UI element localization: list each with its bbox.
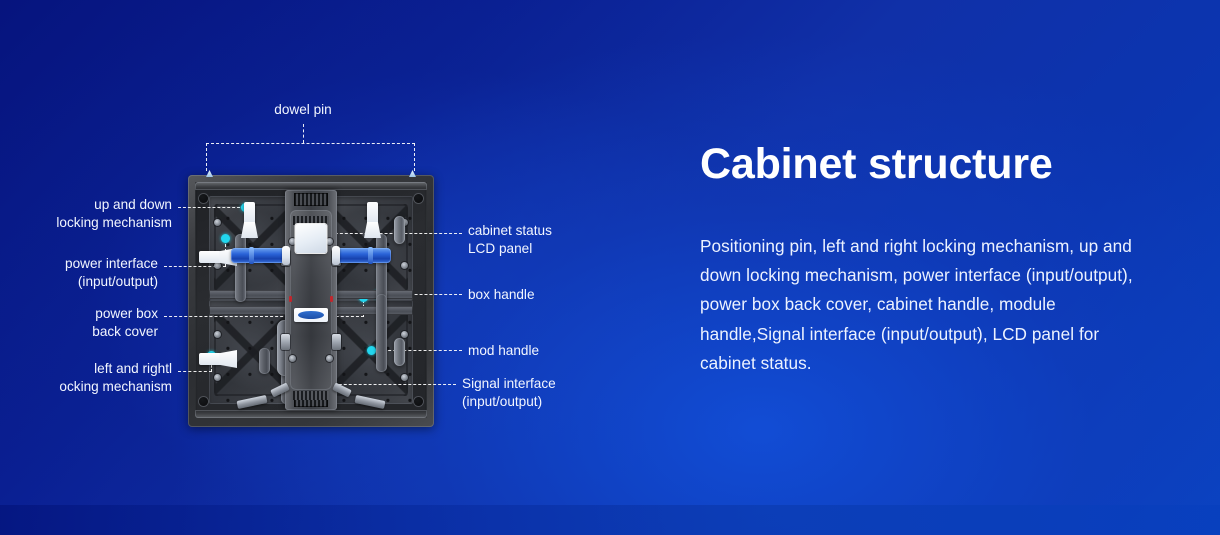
- module-screw: [214, 374, 221, 381]
- dowel-pin-right: [409, 170, 416, 177]
- description-paragraph: Positioning pin, left and right locking …: [700, 232, 1155, 378]
- cabinet-top-rail: [195, 182, 427, 190]
- up-and-down-locking-mechanism-top-right: [364, 202, 381, 242]
- leader-mod-handle: [378, 350, 462, 351]
- text-column: Cabinet structure Positioning pin, left …: [700, 143, 1170, 378]
- leader-dowel-pin-left-drop: [206, 143, 207, 171]
- power-interface-connector-input: [231, 248, 287, 263]
- leader-left-and-right-locking-mechanism-h: [178, 371, 212, 372]
- leader-dowel-pin-right-drop: [414, 143, 415, 171]
- corner-boss-top-left: [199, 194, 208, 203]
- cabinet-inner-frame: [195, 182, 427, 418]
- power-box-wing-left-lower: [281, 334, 290, 350]
- callout-label-dowel-pin: dowel pin: [203, 101, 403, 119]
- module-handle-top-left: [235, 234, 246, 302]
- module-screw: [214, 219, 221, 226]
- slide-canvas: dowel pin up and down locking mechanism …: [0, 0, 1220, 535]
- led-cabinet-diagram: dowel pin up and down locking mechanism …: [0, 0, 660, 535]
- callout-label-mod-handle: mod handle: [468, 342, 658, 360]
- module-handle-top-right: [376, 234, 387, 302]
- module-screw: [401, 262, 408, 269]
- marker-power-interface: [221, 234, 230, 243]
- marker-mod-handle: [367, 346, 376, 355]
- callout-label-signal-interface: Signal interface (input/output): [462, 375, 658, 410]
- power-box-wing-right-lower: [332, 334, 341, 350]
- alignment-mark-right: [330, 296, 333, 302]
- power-box-screw: [326, 238, 333, 245]
- callout-label-up-and-down-locking-mechanism: up and down locking mechanism: [0, 196, 172, 231]
- alignment-mark-left: [289, 296, 292, 302]
- callout-label-power-box-back-cover: power box back cover: [0, 305, 158, 340]
- callout-label-power-interface: power interface (input/output): [0, 255, 158, 290]
- left-and-right-locking-mechanism-lower: [199, 350, 243, 368]
- power-box-screw: [289, 355, 296, 362]
- module-handle-small-left: [259, 348, 270, 374]
- power-box-screw: [326, 355, 333, 362]
- corner-boss-bottom-left: [199, 397, 208, 406]
- up-and-down-locking-mechanism-top-left: [241, 202, 258, 242]
- leader-dowel-pin-stub: [303, 124, 304, 143]
- module-screw: [401, 331, 408, 338]
- callout-label-cabinet-status-lcd-panel: cabinet status LCD panel: [468, 222, 658, 257]
- latch-plate-bottom-right: [394, 338, 405, 366]
- page-title: Cabinet structure: [700, 143, 1170, 186]
- dowel-pin-left: [206, 170, 213, 177]
- cabinet-status-lcd-panel: [296, 224, 327, 253]
- cabinet-bottom-rail: [195, 410, 427, 418]
- latch-plate-top-right: [394, 216, 405, 244]
- module-screw: [401, 374, 408, 381]
- brand-badge: [294, 308, 328, 322]
- leader-dowel-pin-bracket: [206, 143, 415, 144]
- leader-cabinet-status-lcd-panel: [320, 233, 462, 234]
- callout-label-left-and-right-locking-mechanism: left and rightl ocking mechanism: [0, 360, 172, 395]
- callout-label-box-handle: box handle: [468, 286, 658, 304]
- brand-badge-mark: [298, 311, 324, 319]
- module-screw: [214, 331, 221, 338]
- power-interface-connector-output: [335, 248, 391, 263]
- power-box-vent-top: [294, 193, 328, 206]
- corner-boss-top-right: [414, 194, 423, 203]
- corner-boss-bottom-right: [414, 397, 423, 406]
- cabinet-body: [188, 175, 434, 427]
- module-handle-bottom-right: [376, 294, 387, 372]
- leader-up-and-down-locking-mechanism: [178, 207, 245, 208]
- power-box-grill-lower: [293, 391, 329, 400]
